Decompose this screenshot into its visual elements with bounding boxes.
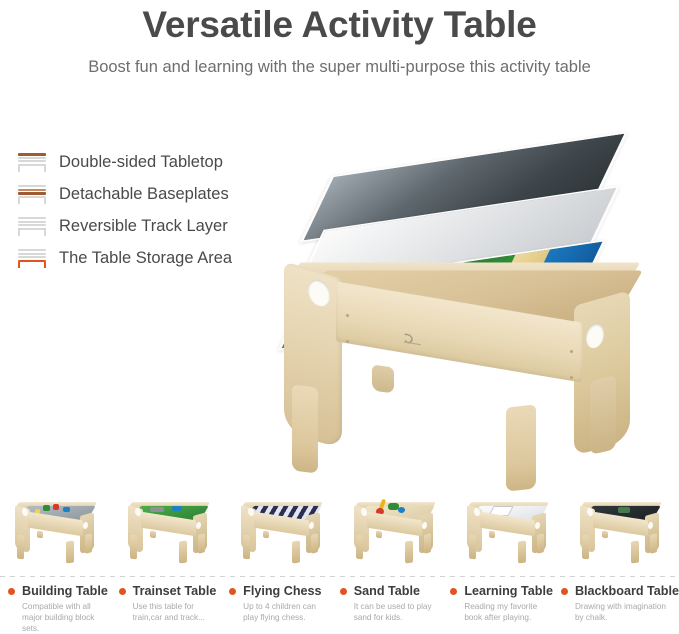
feature-label: Detachable Baseplates	[59, 184, 229, 204]
variant-title: Sand Table	[354, 584, 420, 598]
variant-thumbnail-row	[0, 495, 679, 573]
page-subtitle: Boost fun and learning with the super mu…	[0, 57, 679, 77]
variant-description: Drawing with imagination by chalk.	[575, 601, 670, 623]
feature-list: Double-sided Tabletop Detachable Basepla…	[14, 146, 304, 274]
variant-description: Use this table for train,car and track..…	[133, 601, 222, 623]
bullet-icon	[119, 588, 126, 595]
bullet-icon	[229, 588, 236, 595]
bullet-icon	[561, 588, 568, 595]
layered-table-track-icon	[14, 214, 50, 238]
feature-item-double-sided-tabletop: Double-sided Tabletop	[14, 146, 304, 178]
learning-table-thumbnail	[453, 495, 566, 573]
feature-label: The Table Storage Area	[59, 248, 232, 268]
variant-title: Trainset Table	[133, 584, 217, 598]
hero-product-image	[262, 120, 679, 480]
variant-title: Flying Chess	[243, 584, 321, 598]
feature-label: Double-sided Tabletop	[59, 152, 223, 172]
variant-title: Building Table	[22, 584, 108, 598]
variant-title: Learning Table	[464, 584, 553, 598]
trainset-table-thumbnail	[113, 495, 226, 573]
layered-table-top-icon	[14, 150, 50, 174]
variant-description: Up to 4 children can play flying chess.	[243, 601, 332, 623]
variant-description: Reading my favorite book after playing.	[464, 601, 553, 623]
bullet-icon	[450, 588, 457, 595]
header: Versatile Activity Table Boost fun and l…	[0, 0, 679, 77]
layered-table-baseplate-icon	[14, 182, 50, 206]
page-title: Versatile Activity Table	[0, 4, 679, 46]
variant-title: Blackboard Table	[575, 584, 679, 598]
dashed-divider	[0, 576, 679, 577]
layered-table-storage-icon	[14, 246, 50, 270]
feature-label: Reversible Track Layer	[59, 216, 228, 236]
sand-table-thumbnail	[340, 495, 453, 573]
building-table-thumbnail	[0, 495, 113, 573]
feature-item-reversible-track-layer: Reversible Track Layer	[14, 210, 304, 242]
feature-item-detachable-baseplates: Detachable Baseplates	[14, 178, 304, 210]
bullet-icon	[340, 588, 347, 595]
bullet-icon	[8, 588, 15, 595]
wooden-activity-table	[274, 266, 674, 481]
feature-item-table-storage-area: The Table Storage Area	[14, 242, 304, 274]
flying-chess-table-thumbnail	[226, 495, 339, 573]
variant-description: Compatible with all major building block…	[22, 601, 111, 634]
blackboard-table-thumbnail	[566, 495, 679, 573]
variant-description: It can be used to play sand for kids.	[354, 601, 443, 623]
